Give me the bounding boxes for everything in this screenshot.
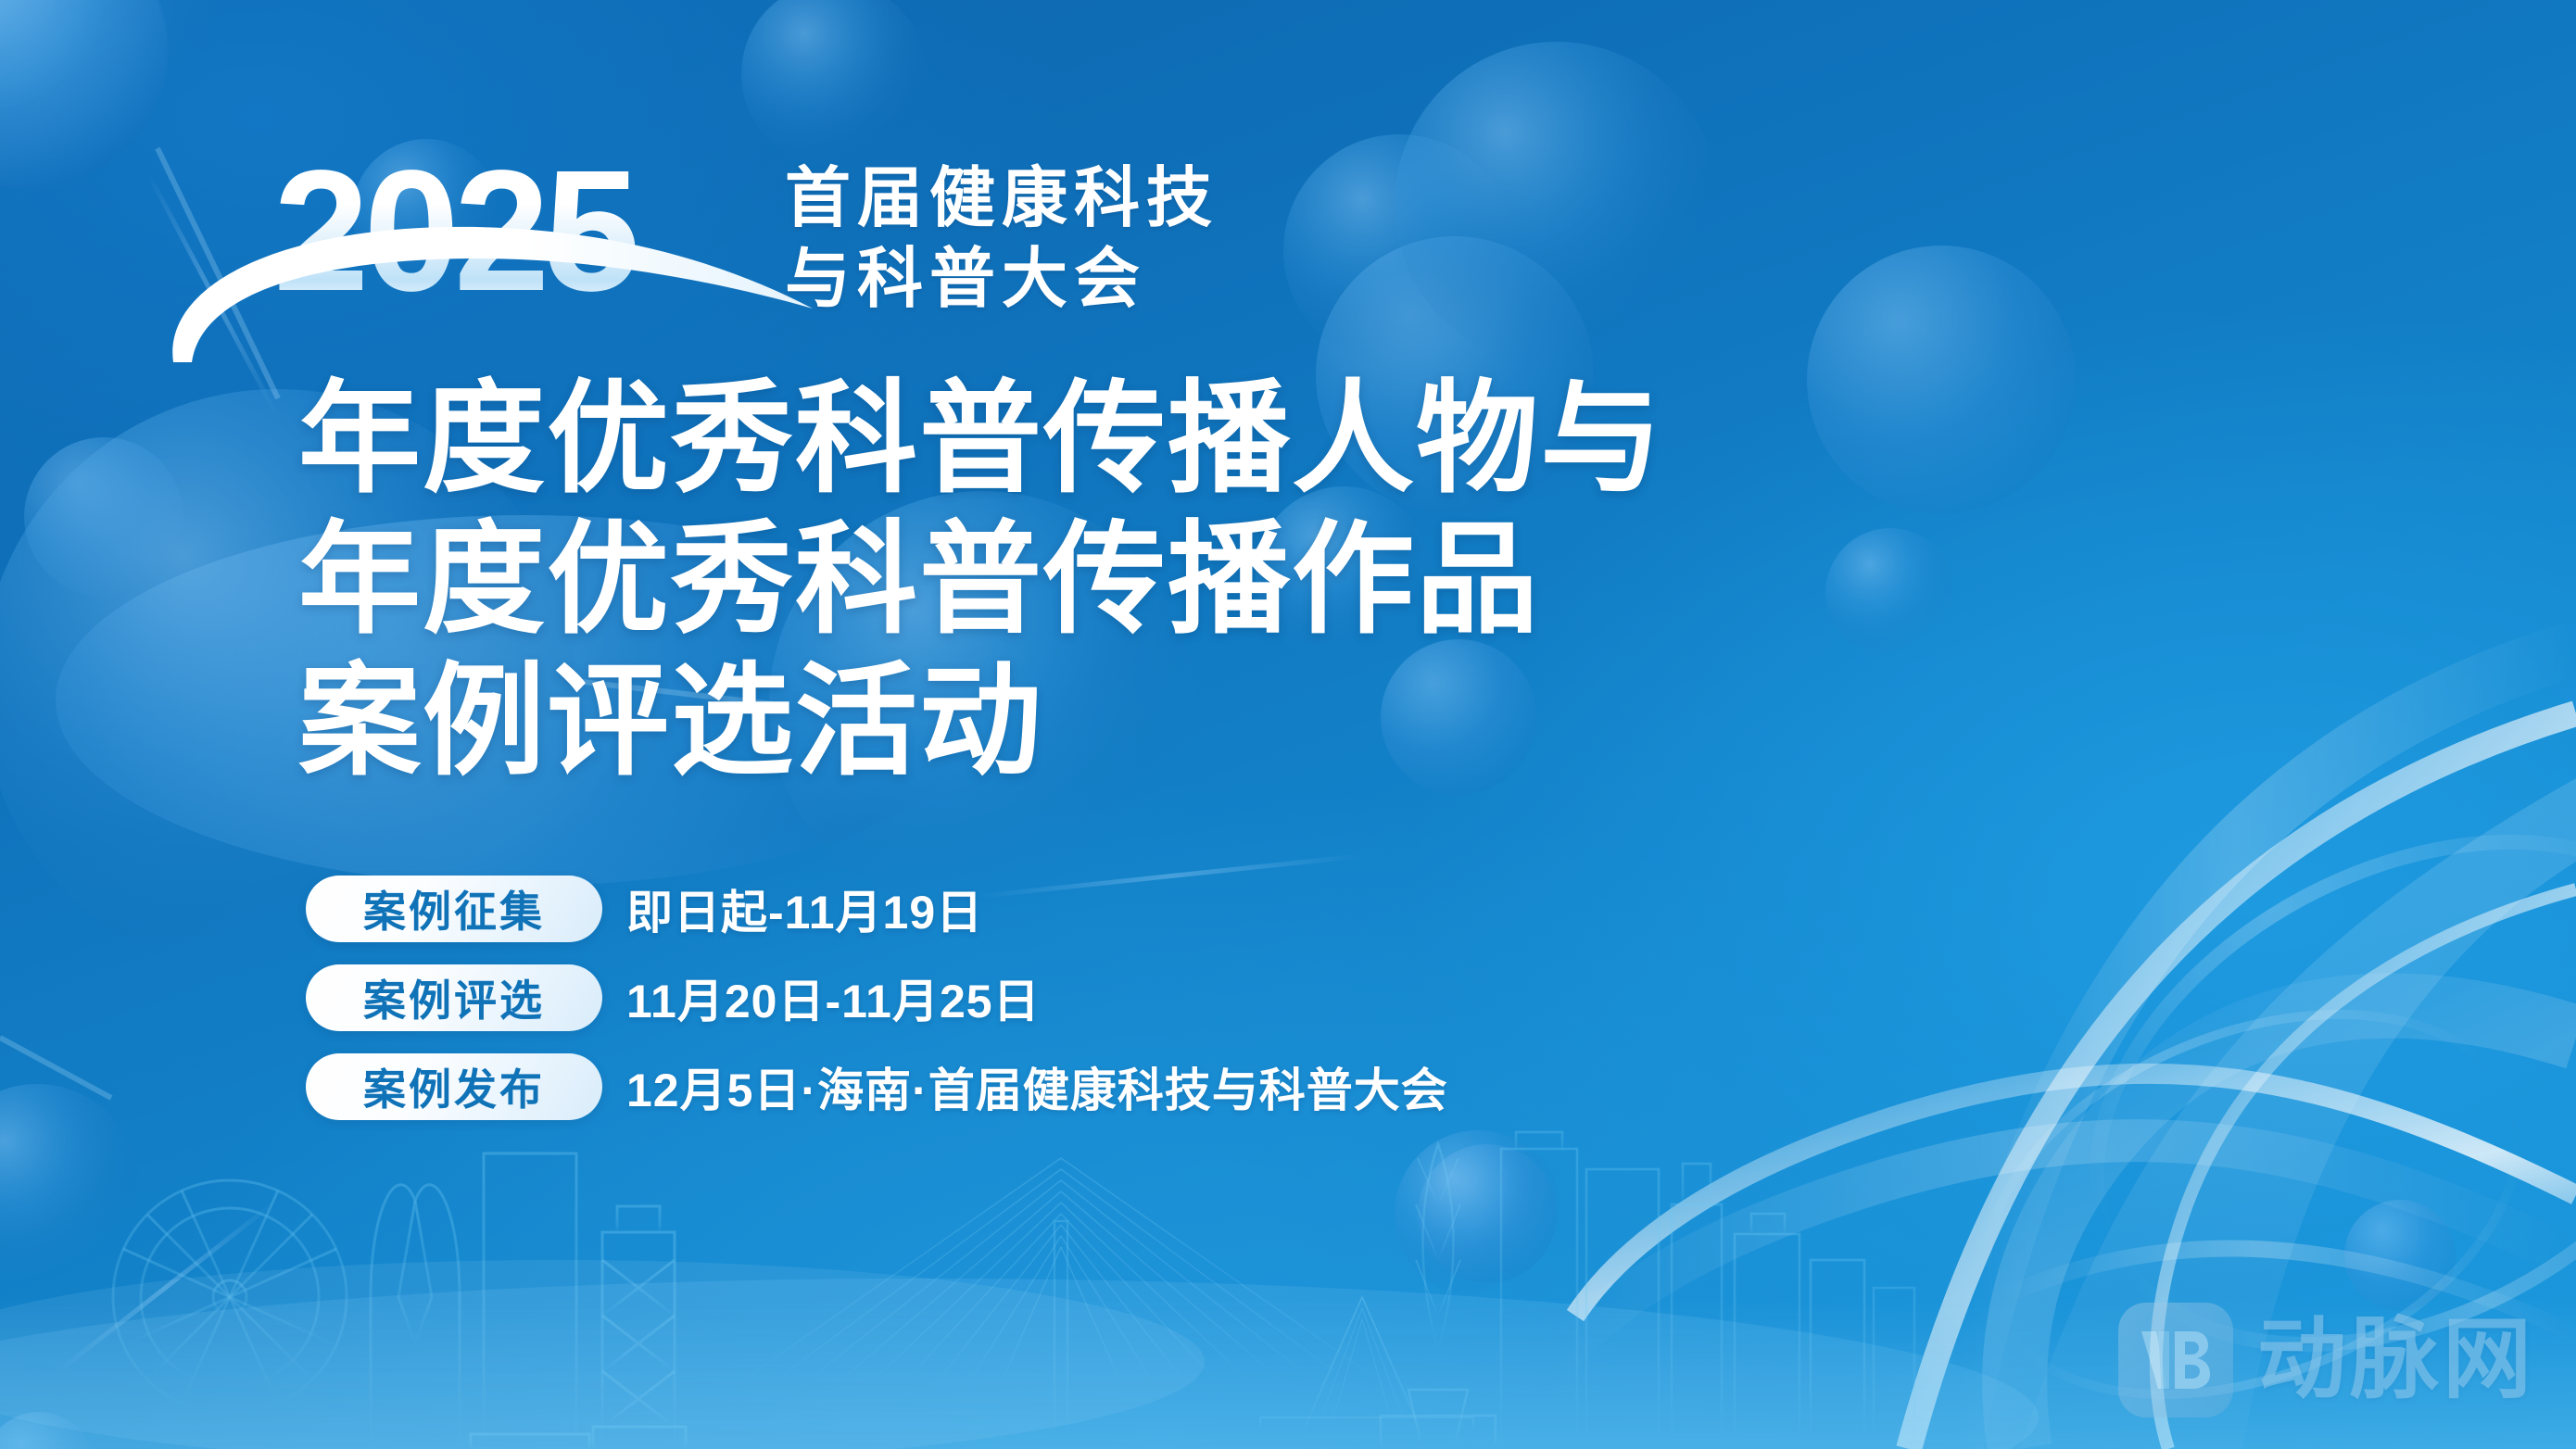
year-logo: 2025 — [273, 153, 737, 343]
conference-line-2: 与科普大会 — [785, 239, 1219, 320]
page-title: 年度优秀科普传播人物与 年度优秀科普传播作品 案例评选活动 — [298, 369, 1664, 792]
bubble-icon — [32, 461, 32, 462]
bubble-icon — [0, 0, 167, 185]
headline-line-1: 年度优秀科普传播人物与 — [298, 369, 1664, 510]
bubble-icon — [24, 437, 183, 597]
swoosh-arc-icon — [153, 207, 820, 364]
conference-name: 首届健康科技 与科普大会 — [785, 153, 1219, 321]
vb-monogram-icon — [2136, 1326, 2216, 1394]
conference-line-1: 首届健康科技 — [785, 158, 1219, 239]
watermark-name: 动脉网 — [2257, 1316, 2535, 1405]
vb-logo-icon — [2118, 1303, 2233, 1417]
badge-label: 案例征集 — [363, 878, 545, 939]
watermark-logo: 动脉网 — [2118, 1303, 2535, 1417]
bond-line-icon — [54, 1201, 275, 1376]
schedule-value: 12月5日·海南·首届健康科技与科普大会 — [626, 1053, 1448, 1120]
status-badge-collection: 案例征集 — [306, 876, 602, 942]
schedule-row: 案例评选 11月20日-11月25日 — [306, 964, 1448, 1031]
schedule-row: 案例征集 即日起-11月19日 — [306, 876, 1448, 942]
headline-line-2: 年度优秀科普传播作品 — [298, 510, 1664, 650]
schedule-list: 案例征集 即日起-11月19日 案例评选 11月20日-11月25日 案例发布 … — [306, 876, 1448, 1120]
schedule-value: 即日起-11月19日 — [626, 876, 983, 942]
badge-label: 案例发布 — [363, 1056, 545, 1117]
headline-line-3: 案例评选活动 — [298, 651, 1664, 792]
bubble-icon — [1418, 1144, 1557, 1283]
schedule-row: 案例发布 12月5日·海南·首届健康科技与科普大会 — [306, 1053, 1448, 1120]
badge-label: 案例评选 — [363, 967, 545, 1028]
promo-banner: 2025 首届健康科技 与科普大会 年度优秀科普传播人物与 年度优秀科普传播作品… — [0, 0, 2576, 1449]
bubble-icon — [0, 1412, 95, 1449]
schedule-value: 11月20日-11月25日 — [626, 964, 1041, 1031]
bubble-icon — [1807, 246, 2076, 514]
bubble-icon — [2344, 1200, 2456, 1311]
status-badge-review: 案例评选 — [306, 964, 602, 1031]
event-logo: 2025 首届健康科技 与科普大会 — [273, 153, 1219, 343]
status-badge-release: 案例发布 — [306, 1053, 602, 1120]
